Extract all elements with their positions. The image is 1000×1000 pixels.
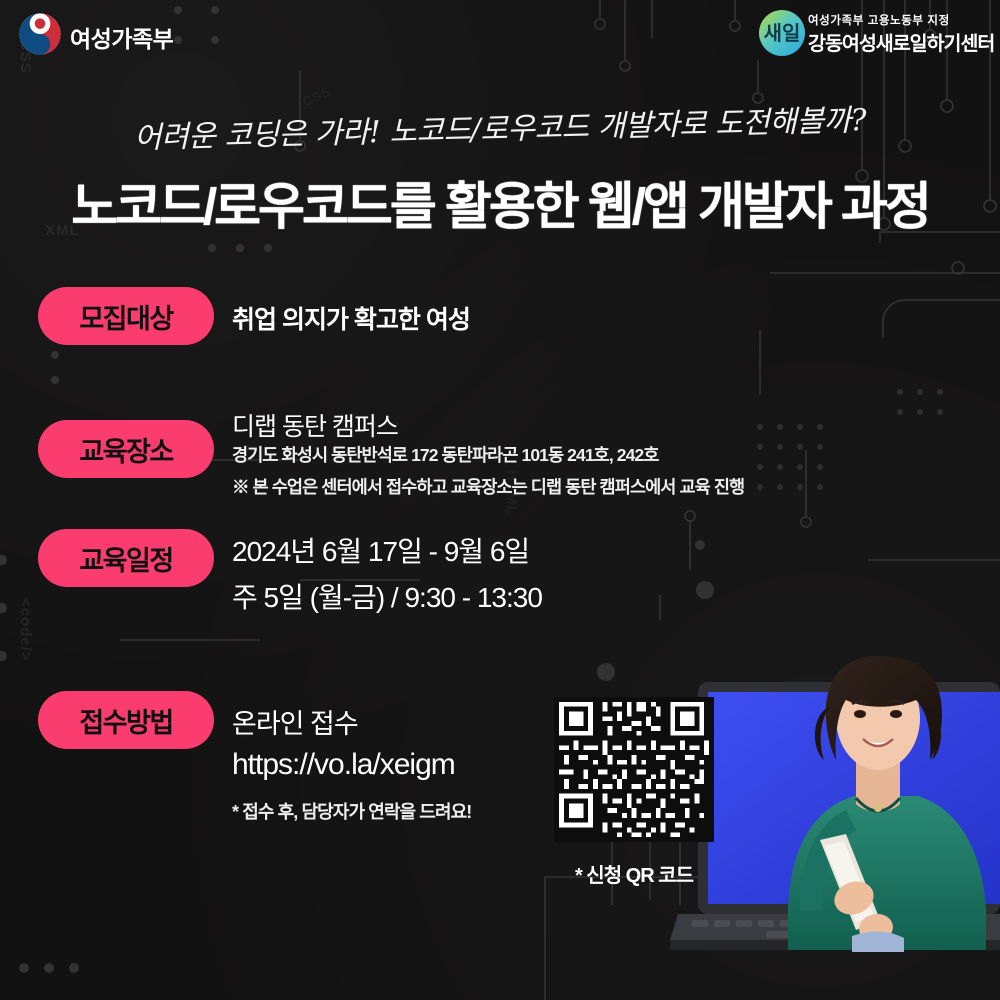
poster-header: 여성가족부 새일 여성가족부 고용노동부 지정 강동여성새로일하기센터 bbox=[0, 0, 1000, 90]
bg-word-code: <code/> bbox=[17, 598, 34, 662]
svg-text:새일: 새일 bbox=[764, 22, 801, 45]
application-note: * 접수 후, 담당자가 연락을 드려요! bbox=[232, 798, 471, 824]
pill-application[interactable]: 접수방법 bbox=[38, 691, 214, 749]
poster-title: 노코드/로우코드를 활용한 웹/앱 개발자 과정 bbox=[0, 165, 1000, 239]
qr-code[interactable] bbox=[554, 697, 714, 842]
location-name: 디랩 동탄 캠퍼스 bbox=[232, 407, 398, 443]
taegeuk-logo bbox=[18, 12, 62, 56]
recruitment-target-text: 취업 의지가 확고한 여성 bbox=[232, 300, 470, 336]
woman-with-laptop-figure bbox=[670, 610, 1000, 1000]
schedule-hours: 주 5일 (월-금) / 9:30 - 13:30 bbox=[232, 576, 542, 616]
location-note: ※ 본 수업은 센터에서 접수하고 교육장소는 디랩 동탄 캠퍼스에서 교육 진… bbox=[232, 474, 744, 499]
application-url[interactable]: https://vo.la/xeigm bbox=[232, 748, 455, 782]
pill-label: 교육장소 bbox=[79, 430, 172, 469]
pill-recruitment-target[interactable]: 모집대상 bbox=[38, 287, 214, 345]
qr-caption: * 신청 QR 코드 bbox=[554, 859, 714, 888]
ministry-name: 여성가족부 bbox=[70, 20, 173, 54]
pill-schedule[interactable]: 교육일정 bbox=[38, 529, 214, 587]
pill-label: 교육일정 bbox=[79, 539, 172, 578]
pill-location[interactable]: 교육장소 bbox=[38, 420, 214, 478]
location-address: 경기도 화성시 동탄반석로 172 동탄파라곤 101동 241호, 242호 bbox=[232, 442, 659, 467]
pill-label: 접수방법 bbox=[79, 701, 172, 740]
application-method: 온라인 접수 bbox=[232, 702, 358, 741]
pill-label: 모집대상 bbox=[79, 297, 172, 336]
schedule-dates: 2024년 6월 17일 - 9월 6일 bbox=[232, 530, 529, 570]
center-name: 강동여성새로일하기센터 bbox=[808, 27, 994, 56]
center-designation: 여성가족부 고용노동부 지정 bbox=[808, 12, 950, 28]
saeil-logo: 새일 bbox=[757, 8, 807, 58]
qr-block: * 신청 QR 코드 bbox=[554, 697, 714, 888]
